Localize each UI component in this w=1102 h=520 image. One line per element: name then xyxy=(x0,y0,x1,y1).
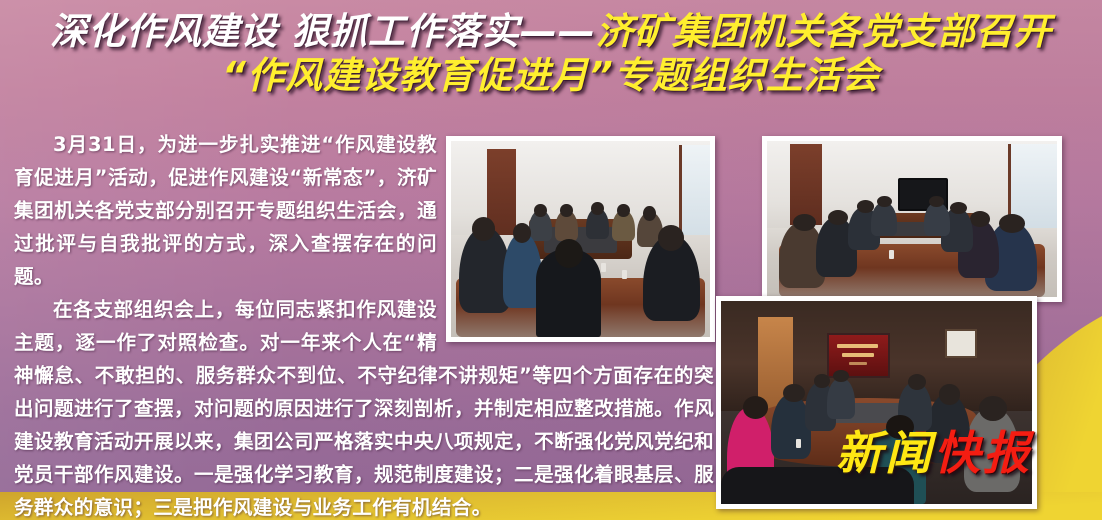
news-poster: 深化作风建设 狠抓工作落实——济矿集团机关各党支部召开 “作风建设教育促进月”专… xyxy=(0,0,1102,520)
meeting-photo-2-image xyxy=(767,141,1057,297)
headline-line-1-yellow: 济矿集团机关各党支部召开 xyxy=(596,10,1052,53)
news-flash-badge: 新闻快报 xyxy=(836,430,1032,476)
meeting-photo-1 xyxy=(446,136,715,342)
meeting-photo-1-image xyxy=(451,141,710,337)
news-flash-badge-yellow: 新闻 xyxy=(836,426,934,480)
news-flash-badge-red: 快报 xyxy=(934,426,1032,480)
meeting-photo-2 xyxy=(762,136,1062,302)
headline-line-1-white: 深化作风建设 狠抓工作落实—— xyxy=(50,10,596,53)
headline-line-1: 深化作风建设 狠抓工作落实——济矿集团机关各党支部召开 xyxy=(0,10,1102,54)
poster-headline: 深化作风建设 狠抓工作落实——济矿集团机关各党支部召开 “作风建设教育促进月”专… xyxy=(0,10,1102,97)
headline-line-2: “作风建设教育促进月”专题组织生活会 xyxy=(0,54,1102,98)
